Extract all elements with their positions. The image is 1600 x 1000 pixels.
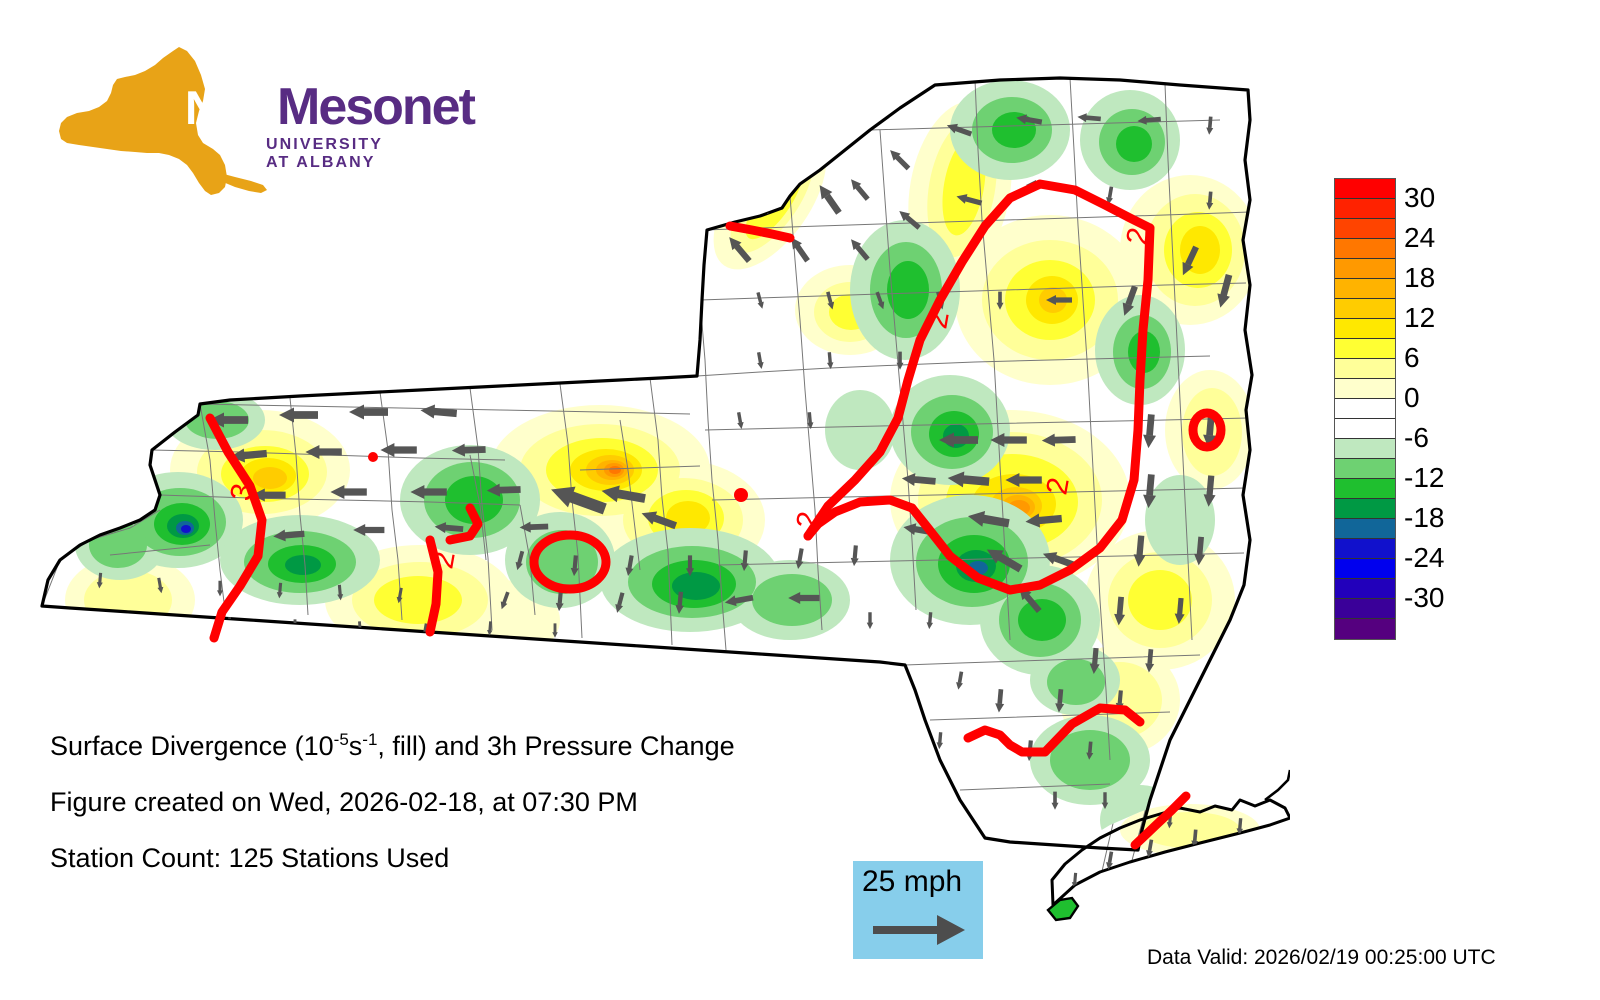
colorbar-tick-0: 0 bbox=[1404, 384, 1484, 412]
colorbar-tick-24: 24 bbox=[1404, 224, 1484, 252]
colorbar-tick-12: 12 bbox=[1404, 304, 1484, 332]
colorbar-band-9 bbox=[1335, 359, 1395, 379]
colorbar-band-2 bbox=[1335, 219, 1395, 239]
colorbar-band-14 bbox=[1335, 459, 1395, 479]
caption-title-part3: , fill) and 3h Pressure Change bbox=[377, 731, 734, 761]
caption-station-count: Station Count: 125 Stations Used bbox=[50, 830, 950, 886]
colorbar-band-15 bbox=[1335, 479, 1395, 499]
colorbar-band-11 bbox=[1335, 399, 1395, 419]
colorbar-tick-18: 18 bbox=[1404, 264, 1484, 292]
colorbar-band-19 bbox=[1335, 559, 1395, 579]
colorbar-tick--18: -18 bbox=[1404, 504, 1484, 532]
colorbar-band-10 bbox=[1335, 379, 1395, 399]
caption-title-part1: Surface Divergence (10 bbox=[50, 731, 334, 761]
colorbar-band-8 bbox=[1335, 339, 1395, 359]
colorbar-band-17 bbox=[1335, 519, 1395, 539]
colorbar-band-20 bbox=[1335, 579, 1395, 599]
caption-title-part2: s bbox=[349, 731, 363, 761]
colorbar-tick--24: -24 bbox=[1404, 544, 1484, 572]
colorbar-band-1 bbox=[1335, 199, 1395, 219]
colorbar-band-6 bbox=[1335, 299, 1395, 319]
colorbar-band-5 bbox=[1335, 279, 1395, 299]
caption-title-exp2: -1 bbox=[362, 730, 377, 749]
colorbar-band-18 bbox=[1335, 539, 1395, 559]
colorbar-band-0 bbox=[1335, 179, 1395, 199]
colorbar-band-21 bbox=[1335, 599, 1395, 619]
wind-scale-legend: 25 mph bbox=[853, 861, 983, 959]
divergence-colorbar bbox=[1334, 178, 1396, 640]
caption-created: Figure created on Wed, 2026-02-18, at 07… bbox=[50, 774, 950, 830]
caption-title: Surface Divergence (10-5s-1, fill) and 3… bbox=[50, 718, 950, 774]
colorbar-band-7 bbox=[1335, 319, 1395, 339]
colorbar-tick--6: -6 bbox=[1404, 424, 1484, 452]
colorbar-band-3 bbox=[1335, 239, 1395, 259]
caption-block: Surface Divergence (10-5s-1, fill) and 3… bbox=[50, 718, 950, 886]
colorbar-band-16 bbox=[1335, 499, 1395, 519]
caption-title-exp1: -5 bbox=[334, 730, 349, 749]
data-valid-timestamp: Data Valid: 2026/02/19 00:25:00 UTC bbox=[1147, 946, 1496, 970]
colorbar-tick-30: 30 bbox=[1404, 184, 1484, 212]
colorbar-band-4 bbox=[1335, 259, 1395, 279]
colorbar-band-13 bbox=[1335, 439, 1395, 459]
colorbar-tick--30: -30 bbox=[1404, 584, 1484, 612]
colorbar-tick-6: 6 bbox=[1404, 344, 1484, 372]
colorbar-band-12 bbox=[1335, 419, 1395, 439]
colorbar-tick-labels: 3024181260-6-12-18-24-30 bbox=[1404, 178, 1514, 648]
colorbar-band-22 bbox=[1335, 619, 1395, 639]
wind-scale-label: 25 mph bbox=[862, 865, 962, 899]
wind-scale-arrow-icon bbox=[871, 913, 967, 947]
colorbar-tick--12: -12 bbox=[1404, 464, 1484, 492]
